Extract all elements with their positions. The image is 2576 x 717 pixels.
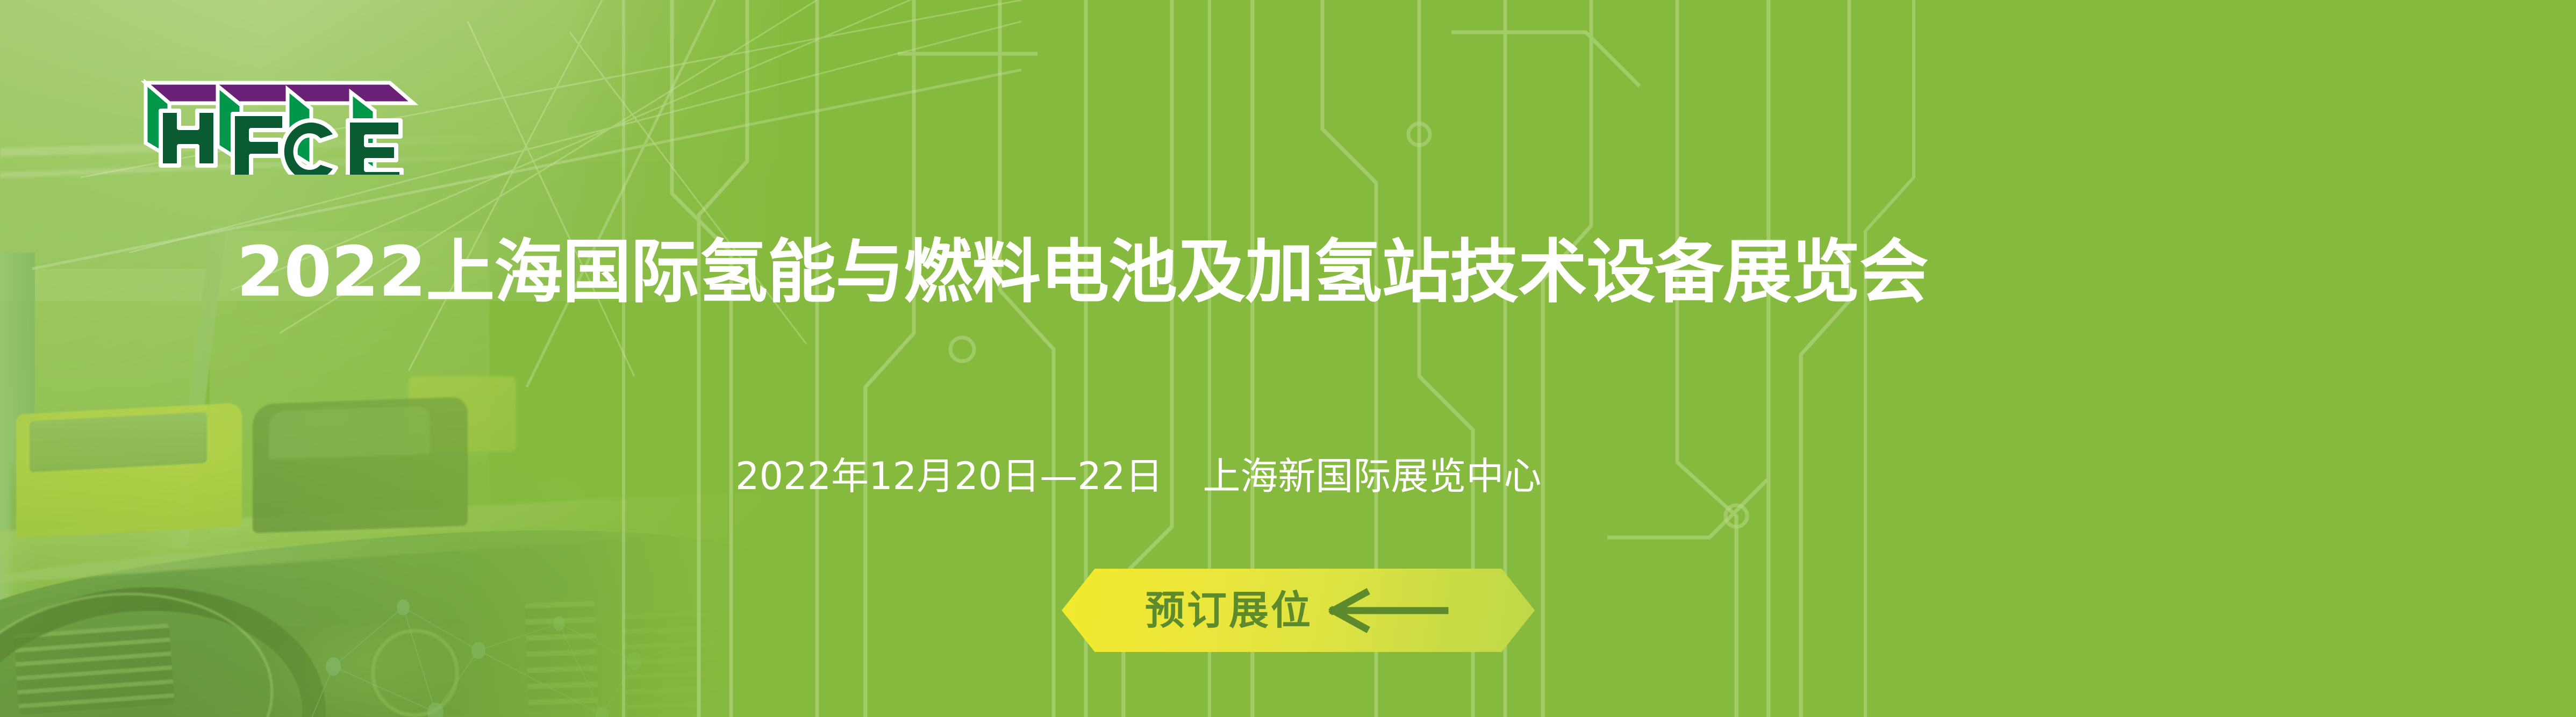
event-venue: 上海新国际展览中心 [1203, 450, 1541, 502]
book-booth-button[interactable]: 预订展位 [1062, 569, 1535, 652]
hfce-logo-icon [137, 75, 422, 175]
page-title: 2022上海国际氢能与燃料电池及加氢站技术设备展览会 [237, 232, 2349, 313]
logo-letter-f [233, 114, 284, 175]
hfce-logo[interactable] [137, 75, 422, 175]
logo-letter-h [161, 111, 216, 166]
book-booth-label: 预订展位 [1145, 591, 1313, 630]
book-booth-button-wrap[interactable]: 预订展位 [1062, 569, 1535, 652]
event-details: 2022年12月20日—22日 上海新国际展览中心 [735, 450, 1541, 502]
left-arrow-icon [1328, 587, 1451, 634]
logo-top-plane [146, 83, 413, 103]
exhibition-banner: 2022上海国际氢能与燃料电池及加氢站技术设备展览会 2022年12月20日—2… [0, 0, 2576, 717]
event-date: 2022年12月20日—22日 [735, 450, 1163, 502]
